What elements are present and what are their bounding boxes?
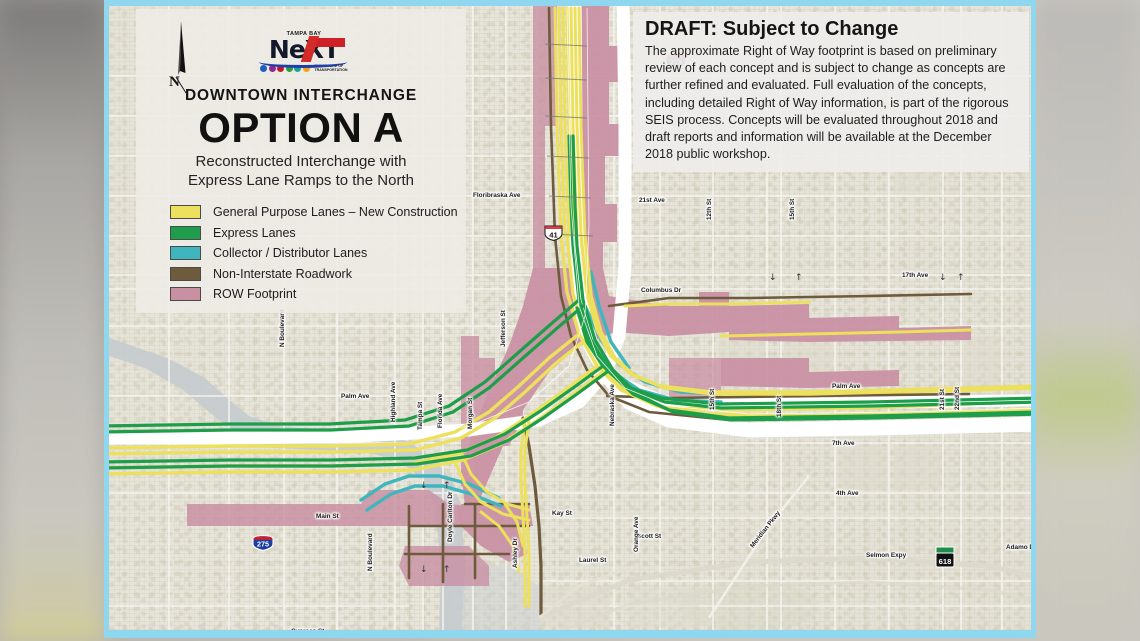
direction-arrow-4: ↑	[443, 566, 451, 575]
logo-dot	[260, 65, 267, 72]
street-label: Ashley Dr	[512, 538, 519, 568]
legend-row: Collector / Distributor Lanes	[170, 243, 466, 264]
street-label: Highland Ave	[390, 382, 397, 422]
street-label: 21st Ave	[639, 197, 665, 204]
legend-label: ROW Footprint	[213, 287, 296, 301]
draft-heading: DRAFT: Subject to Change	[645, 18, 1019, 41]
street-label: 18th St	[776, 396, 783, 417]
legend-row: ROW Footprint	[170, 284, 466, 305]
direction-arrow-7: ↓	[939, 274, 947, 283]
street-label: Doyle Carlton Dr	[447, 492, 454, 542]
legend-label: Collector / Distributor Lanes	[213, 246, 367, 260]
legend-label: Non-Interstate Roadwork	[213, 267, 352, 281]
street-label: Main St	[316, 513, 339, 520]
logo-blue-swoosh	[259, 56, 347, 68]
street-label: Orange Ave	[633, 517, 640, 552]
svg-text:275: 275	[257, 540, 269, 549]
street-label: Cypress St	[291, 628, 324, 635]
direction-arrow-5: ↓	[769, 274, 777, 283]
legend-swatch	[170, 287, 201, 301]
logo-tagline-line2: TRANSPORTATION	[314, 68, 347, 72]
street-label: Florida Ave	[437, 394, 444, 428]
legend-label: Express Lanes	[213, 226, 296, 240]
legend-swatch	[170, 205, 201, 219]
street-label: 4th Ave	[836, 490, 859, 497]
svg-text:41: 41	[549, 230, 558, 239]
street-label: Palm Ave	[341, 393, 369, 400]
legend-row: General Purpose Lanes – New Construction	[170, 202, 466, 223]
route-shield-618: 618	[935, 546, 957, 562]
tampa-bay-next-logo: TAMPA BAY NeXT THE FUTURE OF	[251, 31, 357, 79]
map-legend: General Purpose Lanes – New Construction…	[136, 202, 466, 305]
logo-wordmark: NeXT	[251, 37, 357, 62]
street-label: Adamo Dr	[1006, 544, 1036, 551]
legend-swatch	[170, 226, 201, 240]
street-label: 15th St	[709, 389, 716, 410]
direction-arrow-6: ↑	[795, 274, 803, 283]
street-label: 22nd St	[954, 387, 961, 410]
route-shield-41: 41	[544, 225, 563, 241]
route-shield-275: 275	[252, 535, 274, 551]
direction-arrow-3: ↓	[420, 566, 428, 575]
blurred-backdrop-left	[0, 0, 104, 641]
street-label: Selmon Expy	[866, 552, 906, 559]
direction-arrow-2: ↑	[443, 482, 451, 491]
street-label: 7th Ave	[832, 440, 855, 447]
north-arrow-icon: N	[166, 19, 200, 95]
screenshot-stage: ↓ ↑ ↓ ↑ ↓ ↑ ↓ ↑ Floribraska Ave21st Ave1…	[0, 0, 1140, 641]
street-label: 17th Ave	[902, 272, 928, 279]
street-label: Nebraska Ave	[609, 384, 616, 426]
street-label: N Boulevard	[279, 309, 286, 347]
north-arrow-label: N	[169, 74, 180, 91]
street-label: Tampa St	[417, 402, 424, 430]
legend-row: Express Lanes	[170, 223, 466, 244]
legend-swatch	[170, 246, 201, 260]
street-label: Floribraska Ave	[473, 192, 520, 199]
street-label: Palm Ave	[832, 383, 860, 390]
street-label: 15th St	[789, 199, 796, 220]
panel-description-line2: Express Lane Ramps to the North	[136, 171, 466, 190]
street-label: 21st St	[939, 389, 946, 410]
panel-option-title: OPTION A	[136, 105, 466, 150]
panel-description-line1: Reconstructed Interchange with	[136, 152, 466, 171]
street-label: Kay St	[552, 510, 572, 517]
direction-arrow-8: ↑	[957, 274, 965, 283]
street-label: Laurel St	[579, 557, 606, 564]
street-label: N Boulevard	[367, 533, 374, 571]
blurred-backdrop-right	[1030, 0, 1140, 641]
legend-row: Non-Interstate Roadwork	[170, 264, 466, 285]
street-label: Morgan St	[467, 398, 474, 429]
street-label: Scott St	[637, 533, 661, 540]
draft-notice-panel: DRAFT: Subject to Change The approximate…	[633, 12, 1029, 172]
legend-swatch	[170, 267, 201, 281]
draft-body-text: The approximate Right of Way footprint i…	[645, 43, 1019, 163]
legend-label: General Purpose Lanes – New Construction	[213, 205, 458, 219]
street-label: 12th St	[706, 199, 713, 220]
title-panel: N TAMPA BAY NeXT T	[136, 9, 466, 313]
map-card: ↓ ↑ ↓ ↑ ↓ ↑ ↓ ↑ Floribraska Ave21st Ave1…	[104, 0, 1036, 638]
street-label: Columbus Dr	[641, 287, 681, 294]
svg-text:618: 618	[939, 557, 952, 566]
street-label: Jefferson St	[500, 310, 507, 347]
direction-arrow-1: ↓	[420, 482, 428, 491]
